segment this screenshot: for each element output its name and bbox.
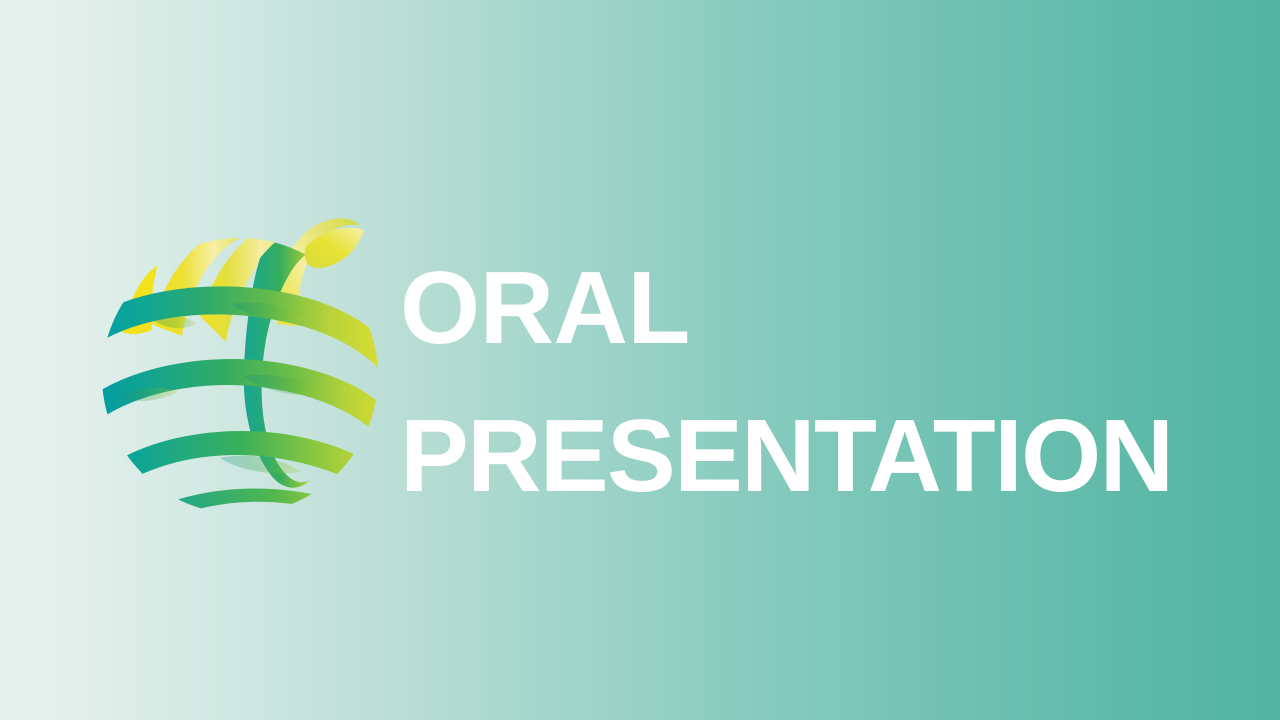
title-line-oral: ORAL: [400, 234, 1220, 382]
title-line-presentation: PRESENTATION: [400, 382, 1220, 530]
slide-title-block: ORAL PRESENTATION: [400, 234, 1220, 530]
globe-ribbons-logo: [92, 196, 388, 524]
ribbon-band: [136, 488, 386, 540]
presentation-slide: ORAL PRESENTATION: [0, 0, 1280, 720]
